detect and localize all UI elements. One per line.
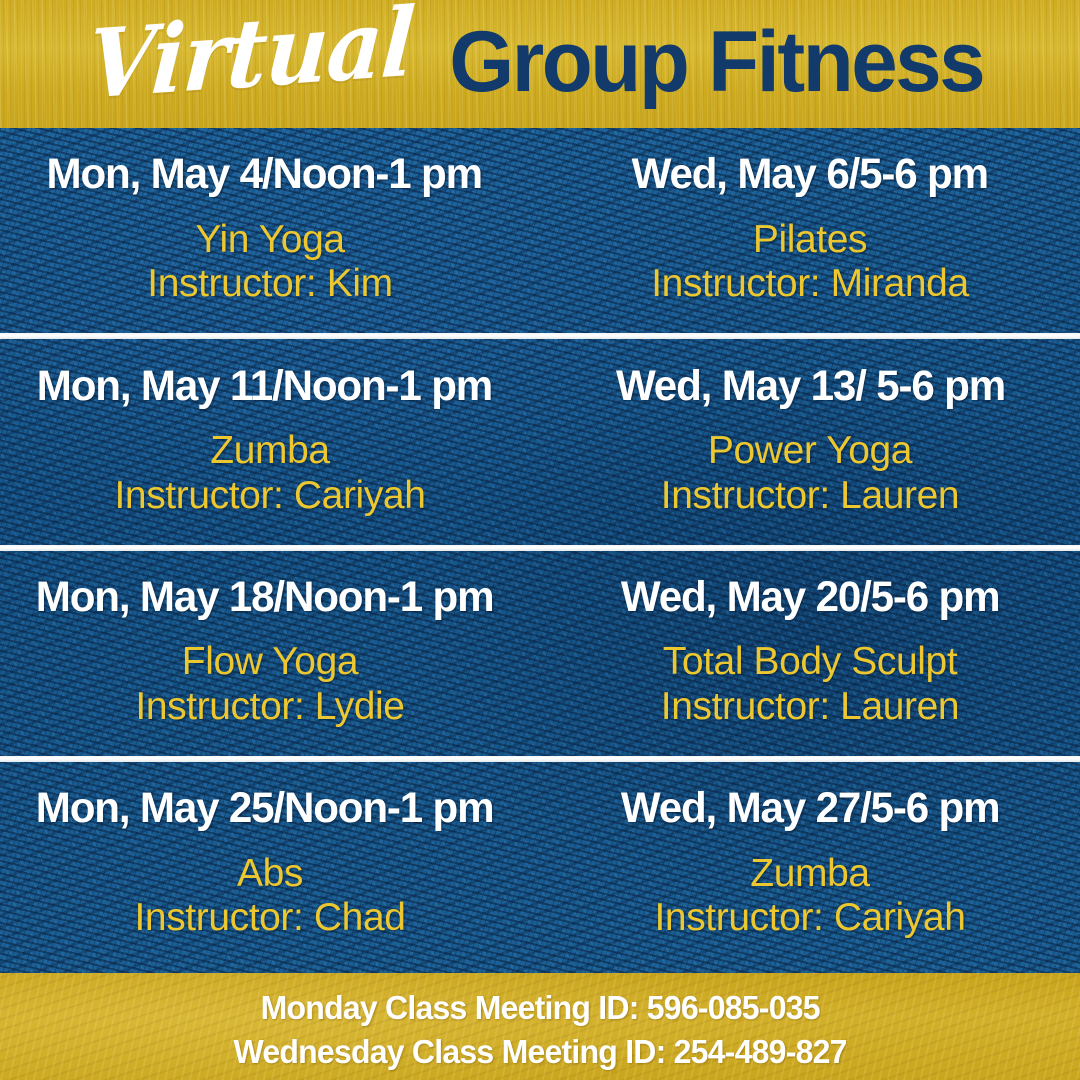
- class-card-mon-may-18[interactable]: Mon, May 18/Noon-1 pm Flow Yoga Instruct…: [0, 551, 540, 762]
- class-name: Zumba: [210, 429, 329, 473]
- schedule-row: Mon, May 4/Noon-1 pm Yin Yoga Instructor…: [0, 128, 1080, 339]
- class-name: Abs: [237, 852, 303, 896]
- class-instructor: Instructor: Lauren: [661, 685, 959, 729]
- title-script-virtual: Virtual: [85, 0, 416, 112]
- class-date-time: Wed, May 13/ 5-6 pm: [615, 364, 1004, 410]
- class-date-time: Wed, May 6/5-6 pm: [632, 152, 988, 198]
- class-date-time: Mon, May 18/Noon-1 pm: [35, 575, 493, 621]
- schedule-grid: Mon, May 4/Noon-1 pm Yin Yoga Instructor…: [0, 128, 1080, 973]
- class-card-wed-may-6[interactable]: Wed, May 6/5-6 pm Pilates Instructor: Mi…: [540, 128, 1080, 339]
- class-instructor: Instructor: Miranda: [651, 262, 969, 306]
- class-date-time: Mon, May 4/Noon-1 pm: [46, 152, 481, 198]
- poster-footer: Monday Class Meeting ID: 596-085-035 Wed…: [0, 973, 1080, 1080]
- class-card-mon-may-11[interactable]: Mon, May 11/Noon-1 pm Zumba Instructor: …: [0, 339, 540, 550]
- class-date-time: Mon, May 25/Noon-1 pm: [35, 786, 493, 832]
- class-instructor: Instructor: Cariyah: [654, 896, 965, 940]
- class-card-wed-may-27[interactable]: Wed, May 27/5-6 pm Zumba Instructor: Car…: [540, 762, 1080, 973]
- class-name: Yin Yoga: [195, 218, 344, 262]
- monday-meeting-id: Monday Class Meeting ID: 596-085-035: [260, 988, 819, 1028]
- class-card-mon-may-4[interactable]: Mon, May 4/Noon-1 pm Yin Yoga Instructor…: [0, 128, 540, 339]
- class-card-mon-may-25[interactable]: Mon, May 25/Noon-1 pm Abs Instructor: Ch…: [0, 762, 540, 973]
- poster-header: Virtual Group Fitness: [0, 0, 1080, 128]
- class-name: Flow Yoga: [182, 640, 358, 684]
- page-title: Group Fitness: [450, 19, 984, 105]
- wednesday-meeting-id: Wednesday Class Meeting ID: 254-489-827: [233, 1032, 846, 1072]
- class-instructor: Instructor: Lauren: [661, 474, 959, 518]
- class-instructor: Instructor: Kim: [147, 262, 392, 306]
- virtual-group-fitness-poster: Virtual Group Fitness Mon, May 4/Noon-1 …: [0, 0, 1080, 1080]
- schedule-row: Mon, May 25/Noon-1 pm Abs Instructor: Ch…: [0, 762, 1080, 973]
- schedule-row: Mon, May 11/Noon-1 pm Zumba Instructor: …: [0, 339, 1080, 550]
- class-date-time: Wed, May 27/5-6 pm: [621, 786, 1000, 832]
- class-date-time: Mon, May 11/Noon-1 pm: [36, 364, 491, 410]
- class-name: Power Yoga: [708, 429, 912, 473]
- schedule-row: Mon, May 18/Noon-1 pm Flow Yoga Instruct…: [0, 551, 1080, 762]
- class-card-wed-may-13[interactable]: Wed, May 13/ 5-6 pm Power Yoga Instructo…: [540, 339, 1080, 550]
- class-instructor: Instructor: Cariyah: [114, 474, 425, 518]
- class-name: Total Body Sculpt: [663, 640, 958, 684]
- class-instructor: Instructor: Chad: [134, 896, 405, 940]
- class-name: Zumba: [750, 852, 869, 896]
- class-instructor: Instructor: Lydie: [135, 685, 404, 729]
- class-card-wed-may-20[interactable]: Wed, May 20/5-6 pm Total Body Sculpt Ins…: [540, 551, 1080, 762]
- class-name: Pilates: [753, 218, 867, 262]
- class-date-time: Wed, May 20/5-6 pm: [621, 575, 1000, 621]
